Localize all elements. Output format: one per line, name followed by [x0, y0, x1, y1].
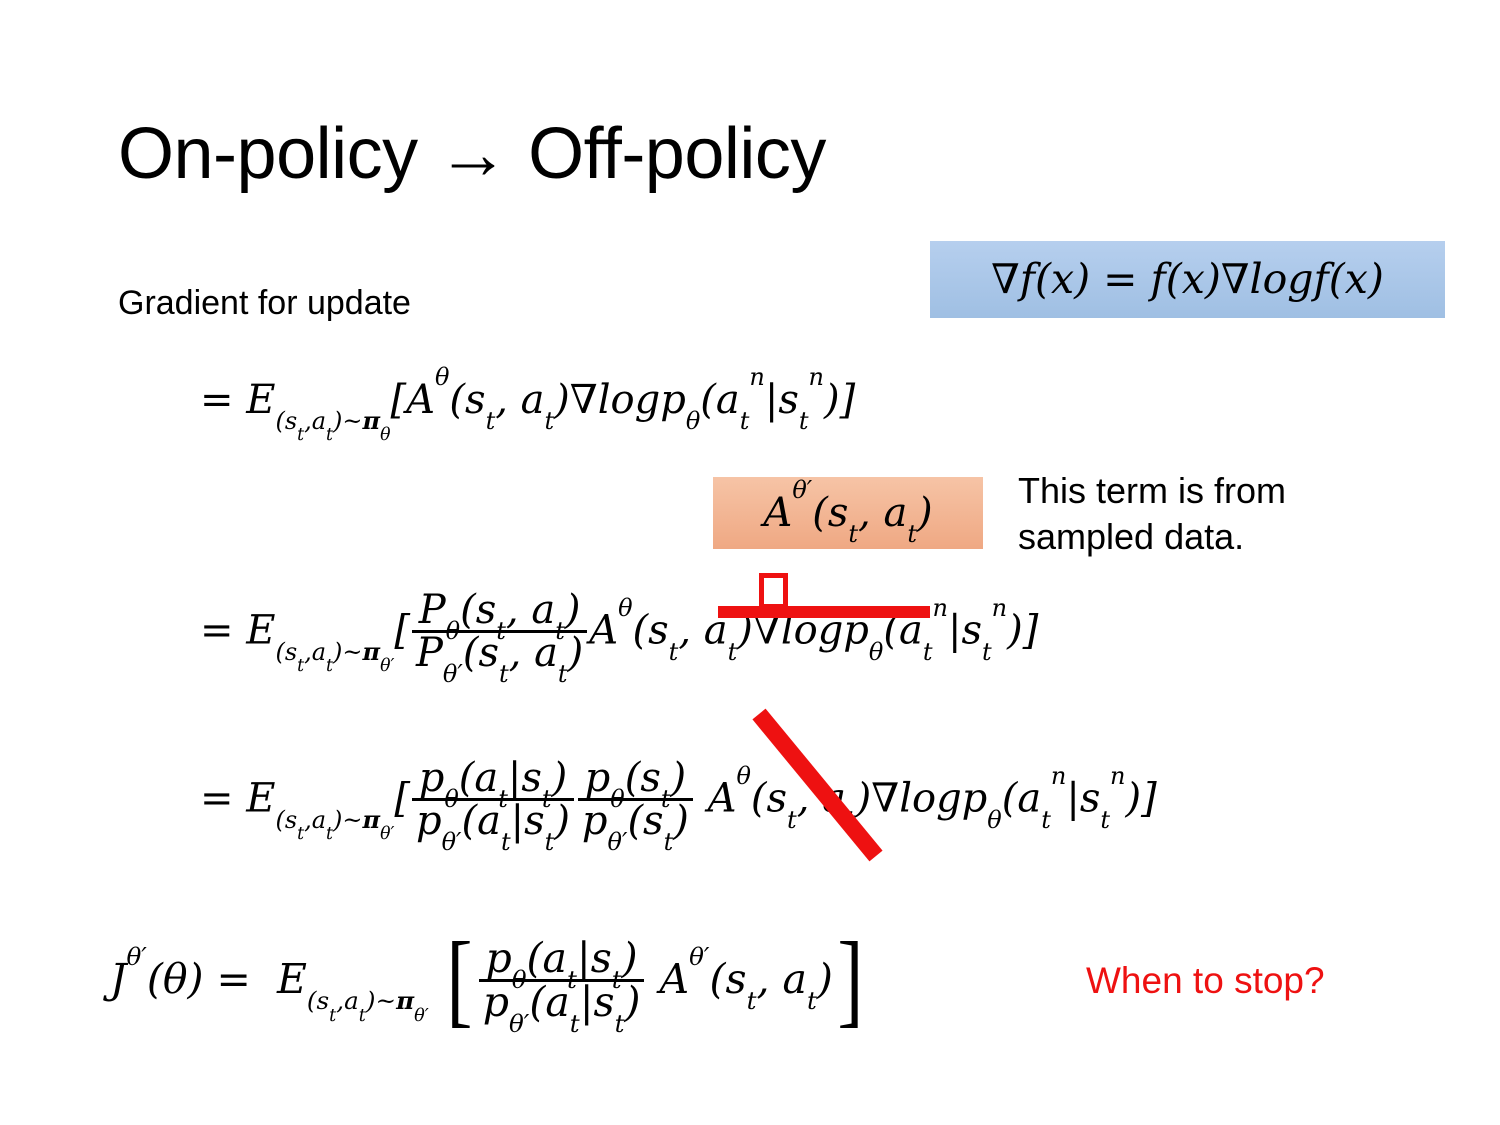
equation-line-4: Jθ′(θ) = E(st,at)~πθ′ [pθ(at|st)pθ′(at|s… [110, 930, 868, 1035]
when-to-stop-note: When to stop? [1086, 960, 1325, 1002]
advantage-term-formula: Aθ′(st, at) [763, 493, 932, 533]
page-title: On-policy → Off-policy [118, 118, 826, 190]
equation-line-1: = E(st,at)~πθ[Aθ(st, at)∇logpθ(atn|stn)] [200, 380, 855, 423]
sampled-data-note: This term is from sampled data. [1018, 468, 1418, 560]
gradient-log-identity-box: ∇f(x) = f(x)∇logf(x) [930, 241, 1445, 318]
state-ratio-fraction: pθ(st)pθ′(st) [578, 758, 693, 841]
equation-line-3: = E(st,at)~πθ′[pθ(at|st)pθ′(at|st)pθ(st)… [200, 760, 1157, 843]
advantage-term-box: Aθ′(st, at) [713, 477, 983, 549]
red-strikethrough-bar [718, 606, 930, 618]
gradient-for-update-label: Gradient for update [118, 284, 411, 323]
left-bracket: [ [446, 927, 472, 1032]
red-rectangle-theta-icon [759, 573, 788, 609]
gradient-log-identity-formula: ∇f(x) = f(x)∇logf(x) [991, 259, 1384, 300]
action-ratio-fraction: pθ(at|st)pθ′(at|st) [412, 758, 574, 841]
equation-line-2: = E(st,at)~πθ′[Pθ(st, at)Pθ′(st, at)Aθ(s… [200, 592, 1038, 675]
right-bracket: ] [837, 927, 863, 1032]
importance-ratio-fraction-capital: Pθ(st, at)Pθ′(st, at) [412, 590, 587, 673]
objective-ratio-fraction: pθ(at|st)pθ′(at|st) [479, 938, 645, 1023]
slide-canvas: On-policy → Off-policy Gradient for upda… [0, 0, 1500, 1125]
